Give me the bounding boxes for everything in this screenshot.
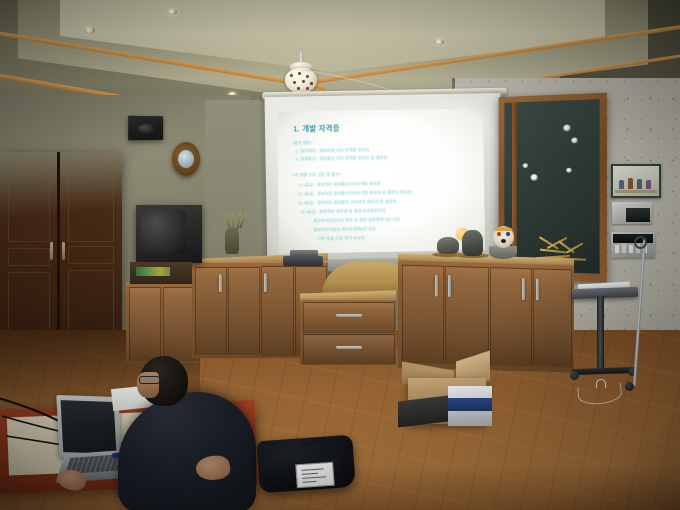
door-panel-upper-left: [8, 166, 50, 242]
av-receiver-display: [136, 267, 170, 276]
slide-title: 1. 개발 자격증: [293, 124, 340, 135]
drawer-2[interactable]: [303, 334, 395, 364]
slide-line-6: 2) 2등급 : 정보처리 정보통신기사자격증 취득자 및 관련자 취득자: [298, 190, 411, 198]
product-box-band: [448, 398, 492, 411]
ceramic-pot-2: [462, 230, 483, 256]
drawer-1[interactable]: [303, 302, 395, 333]
cabinet-mid-handle-1[interactable]: [219, 274, 222, 292]
cart-caster-1: [570, 371, 579, 380]
downlight-2: [167, 9, 177, 15]
cabinet-right-door-3[interactable]: [490, 267, 532, 366]
vase: [225, 228, 239, 254]
hahoe-mask: [493, 226, 514, 248]
door-handle-left[interactable]: [50, 242, 53, 260]
photo-scene: 1. 개발 자격증 <평가 개요> 1. 정보처리 : 정보처리 기사 자격증 …: [0, 0, 680, 510]
av-cart-post: [597, 296, 604, 372]
cabinet-left-door-1[interactable]: [129, 287, 161, 361]
cabinet-right-handle-4[interactable]: [536, 278, 539, 300]
slide-line-4: <과 정별 수료 기준 및 평가>: [292, 172, 342, 179]
drawer-2-handle[interactable]: [336, 346, 362, 349]
laptop-screen-display: [61, 400, 117, 454]
slide-line-9: - 정보처리산업기사 취득 후 관련 실무경력 2년 이상: [311, 217, 400, 224]
picture-frame-1: [611, 164, 661, 198]
mic-clip: [634, 236, 647, 249]
picture-frame-2: [612, 202, 652, 224]
hanger-hook-icon: [596, 379, 606, 388]
ceramic-pot-1: [437, 237, 459, 254]
slide-line-8: 4) 4등급 : 관련학과 재학생 및 관련 자격증취득자: [300, 208, 385, 215]
slide-line-5: 1) 1등급 : 정보처리 정보통신기사자격증 취득자: [298, 181, 381, 188]
door-panel-mid-left: [8, 248, 50, 266]
cabinet-right-handle-2[interactable]: [448, 275, 451, 297]
small-device: [283, 256, 323, 266]
crt-television: [136, 205, 202, 263]
wall-speaker: [128, 116, 163, 141]
av-receiver[interactable]: [130, 262, 192, 284]
eyeglasses: [139, 376, 160, 384]
window-glare-5: [566, 168, 572, 173]
mic-stand-foot: [625, 382, 634, 391]
downlight-3: [434, 39, 444, 45]
picture-1-image: [613, 166, 659, 196]
straw-craft-2: [556, 244, 586, 262]
cabinet-mid-door-1[interactable]: [195, 267, 227, 355]
drawer-1-handle[interactable]: [336, 314, 362, 317]
window-glare-4: [530, 174, 538, 181]
speaker-cone-icon: [138, 124, 154, 133]
small-device-top: [290, 250, 318, 257]
cabinet-mid-handle-2[interactable]: [264, 273, 267, 292]
slide-line-11: - 기타 동등 이상 자격 보유자: [315, 235, 365, 242]
cabinet-right-handle-1[interactable]: [435, 275, 438, 297]
slide-line-10: - 정보처리기능사 취득후경력3년 이상: [311, 226, 376, 233]
door-handle-right[interactable]: [62, 242, 65, 260]
picture-frame-3: [611, 232, 655, 258]
projected-slide: 1. 개발 자격증 <평가 개요> 1. 정보처리 : 정보처리 기사 자격증 …: [277, 108, 485, 253]
window-glare-3: [523, 163, 529, 168]
clock-face: [178, 150, 194, 168]
cabinet-left[interactable]: [126, 283, 198, 363]
cabinet-right-handle-3[interactable]: [522, 278, 525, 300]
sunburst-clock: [172, 142, 200, 176]
slide-line-2: 2. 정보통신 : 정보통신 기사 자격증 취득자 및 관련자: [296, 155, 388, 162]
tv-screen: [140, 210, 186, 254]
cabinet-mid-door-2[interactable]: [228, 267, 260, 355]
product-box-white: [448, 386, 492, 426]
slide-line-1: 1. 정보처리 : 정보처리 기사 자격증 취득자: [295, 147, 369, 154]
downlight-1: [84, 27, 95, 34]
door-panel-upper-right: [68, 164, 114, 242]
cabinet-right-door-2[interactable]: [445, 266, 489, 365]
slide-line-7: 3) 3등급 : 정보처리 정보통신 기사자격 취득자 및 관련자: [298, 199, 396, 207]
bag-name-tag: [295, 462, 335, 489]
door-panel-mid-right: [68, 246, 114, 264]
slide-line-0: <평가 개요>: [291, 140, 313, 146]
drawer-unit[interactable]: [300, 299, 396, 365]
